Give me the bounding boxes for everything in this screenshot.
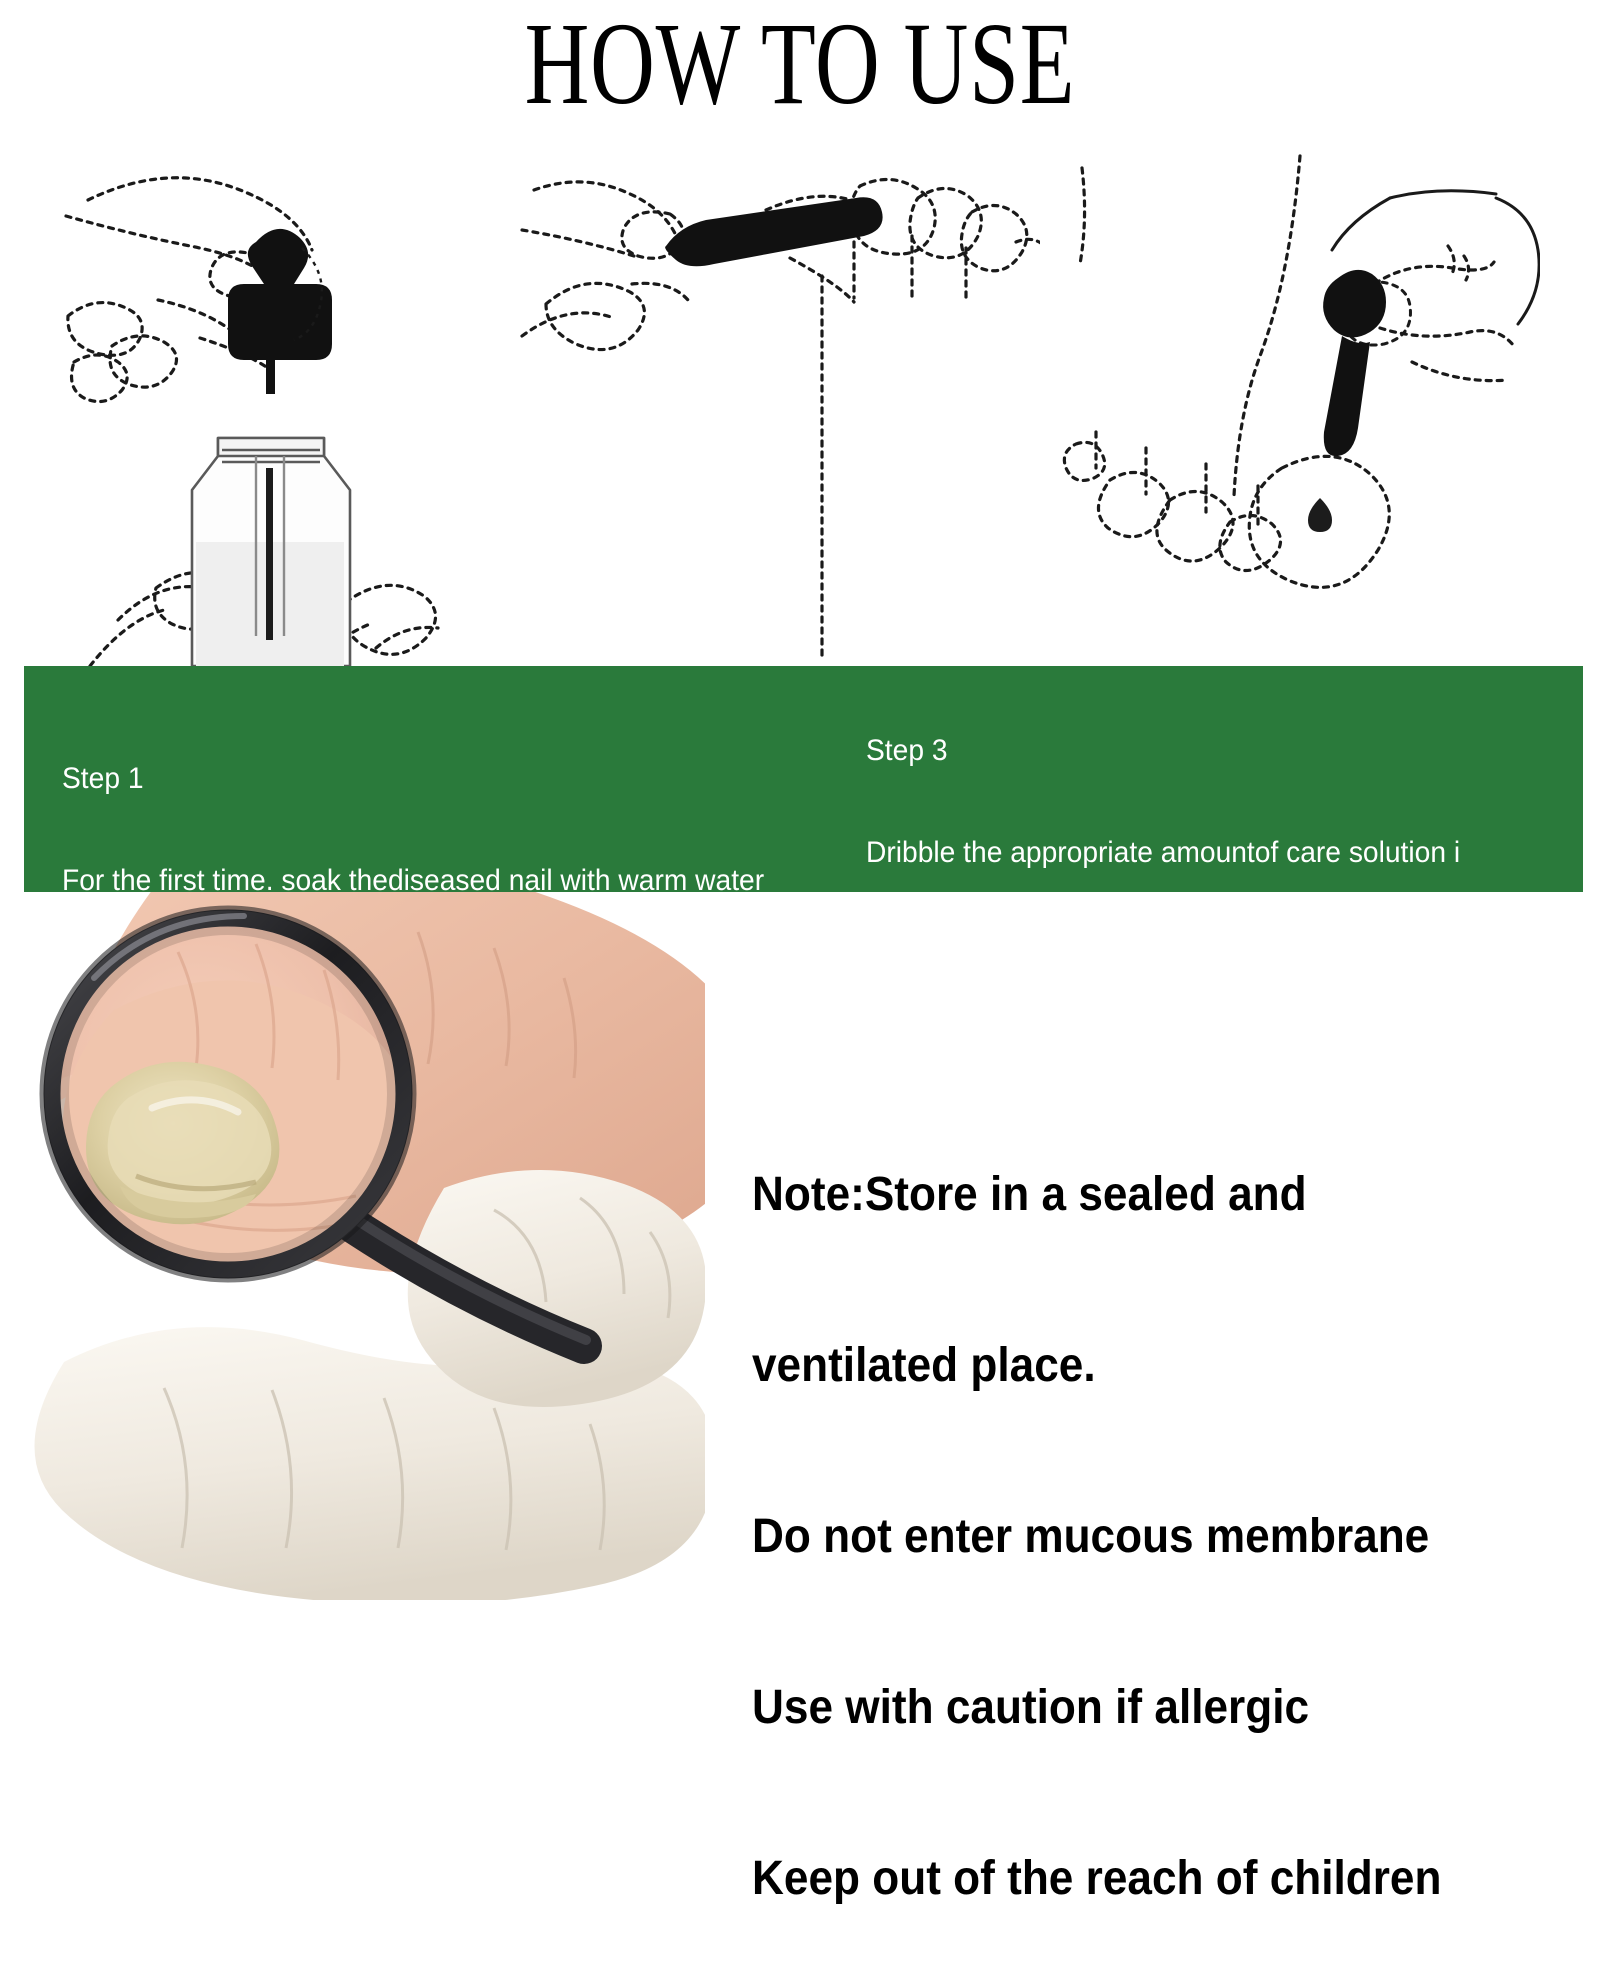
- step-3-heading: Step 3: [866, 734, 1524, 768]
- steps-band: Step 1 For the first time. soak thedisea…: [24, 666, 1583, 892]
- illustration-apply-drop: [1060, 150, 1540, 666]
- note-line-2: ventilated place.: [752, 1337, 1525, 1394]
- note-line-4: Use with caution if allergic: [752, 1679, 1525, 1736]
- illustration-file-nail: [520, 150, 1040, 666]
- magnifier-toenail-photo: [24, 892, 705, 1600]
- note-block: Note:Store in a sealed and ventilated pl…: [752, 1052, 1525, 1964]
- note-line-1: Note:Store in a sealed and: [752, 1166, 1525, 1223]
- note-line-5: Keep out of the reach of children: [752, 1850, 1525, 1907]
- step-1-heading: Step 1: [62, 762, 842, 796]
- page-title: HOW TO USE: [192, 8, 1408, 120]
- illustration-strip: [0, 150, 1600, 666]
- note-line-3: Do not enter mucous membrane: [752, 1508, 1525, 1565]
- step-3-text-2: nto the nail: [866, 938, 1524, 972]
- step-3-text-1: Dribble the appropriate amountof care so…: [866, 836, 1524, 870]
- illustration-open-bottle: [60, 150, 480, 666]
